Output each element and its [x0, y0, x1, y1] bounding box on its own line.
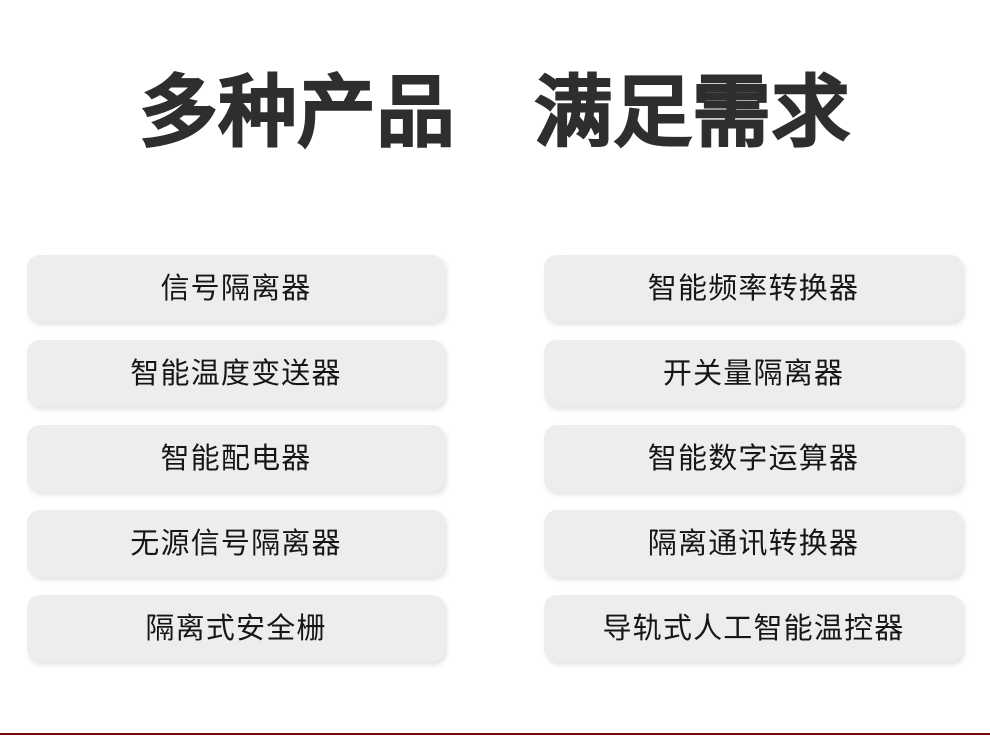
product-card[interactable]: 智能温度变送器 [27, 340, 445, 407]
product-card-label: 智能配电器 [160, 442, 311, 476]
product-card[interactable]: 导轨式人工智能温控器 [544, 595, 963, 662]
product-card[interactable]: 智能频率转换器 [544, 255, 963, 322]
product-column-right: 智能频率转换器 开关量隔离器 智能数字运算器 隔离通讯转换器 导轨式人工智能温控… [544, 255, 963, 679]
product-card[interactable]: 智能配电器 [27, 425, 445, 492]
product-card-label: 智能频率转换器 [648, 272, 859, 306]
bottom-accent-rule [0, 733, 990, 735]
product-card-label: 开关量隔离器 [663, 357, 844, 391]
product-card-label: 智能数字运算器 [648, 442, 859, 476]
product-column-left: 信号隔离器 智能温度变送器 智能配电器 无源信号隔离器 隔离式安全栅 [27, 255, 445, 679]
product-card-label: 隔离通讯转换器 [648, 527, 859, 561]
product-card-label: 导轨式人工智能温控器 [602, 612, 904, 646]
product-card[interactable]: 开关量隔离器 [544, 340, 963, 407]
product-card-label: 隔离式安全栅 [145, 612, 326, 646]
product-category-banner: 多种产品 满足需求 信号隔离器 智能温度变送器 智能配电器 无源信号隔离器 隔离… [0, 0, 990, 740]
product-card-grid: 信号隔离器 智能温度变送器 智能配电器 无源信号隔离器 隔离式安全栅 智能频率转… [0, 255, 990, 679]
product-card-label: 无源信号隔离器 [130, 527, 341, 561]
product-card[interactable]: 隔离通讯转换器 [544, 510, 963, 577]
product-card[interactable]: 无源信号隔离器 [27, 510, 445, 577]
page-title: 多种产品 满足需求 [0, 62, 990, 162]
product-card-label: 信号隔离器 [160, 272, 311, 306]
product-card[interactable]: 信号隔离器 [27, 255, 445, 322]
product-card[interactable]: 智能数字运算器 [544, 425, 963, 492]
product-card[interactable]: 隔离式安全栅 [27, 595, 445, 662]
product-card-label: 智能温度变送器 [130, 357, 341, 391]
